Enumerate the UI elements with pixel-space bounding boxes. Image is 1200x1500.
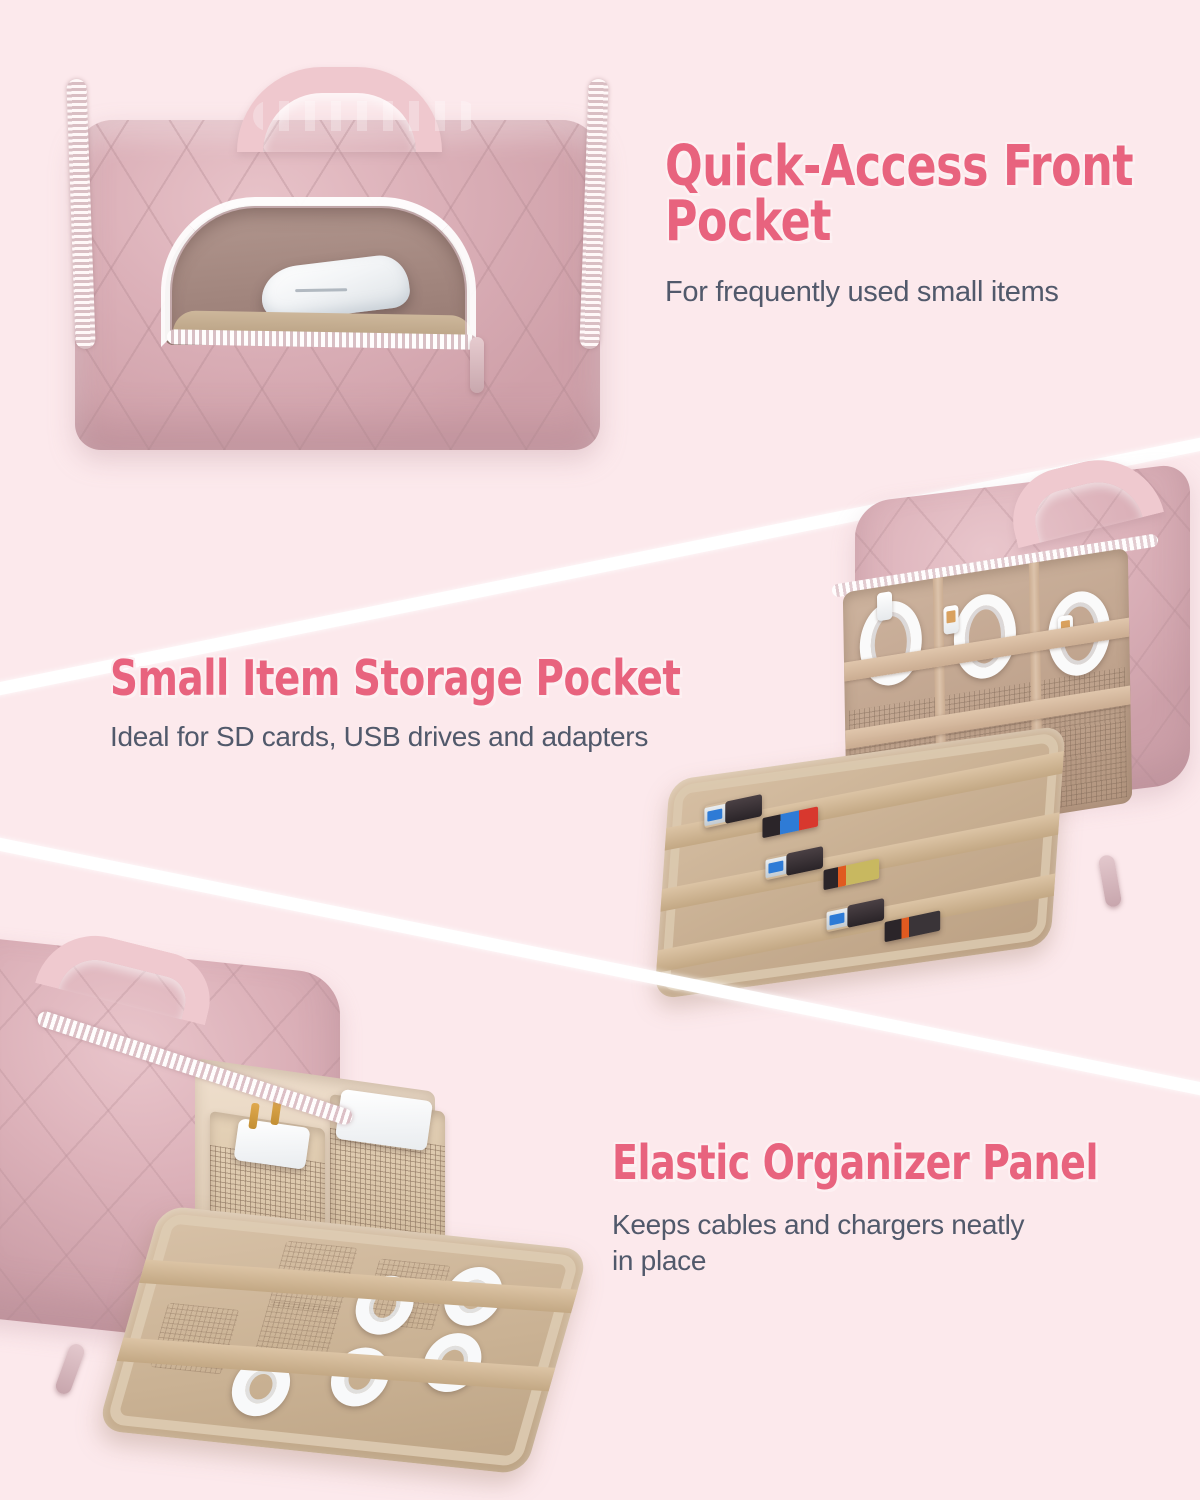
feature-block-small-item-storage: Small Item Storage Pocket Ideal for SD c… [110, 655, 810, 755]
usb-plug [943, 605, 958, 635]
elastic-organizer-flap [97, 1205, 589, 1474]
feature-block-elastic-organizer: Elastic Organizer Panel Keeps cables and… [612, 1140, 1172, 1279]
subline-line-1: Keeps cables and chargers neatly [612, 1207, 1172, 1243]
product-feature-infographic: Quick-Access Front Pocket For frequently… [0, 0, 1200, 1500]
feature-headline: Quick-Access Front Pocket [665, 140, 1140, 250]
headline-line-2: Pocket [665, 195, 1140, 250]
photo-elastic-organizer-panel [0, 925, 600, 1500]
usb-connector-icon [765, 856, 787, 879]
zipper-pull-icon [1098, 854, 1123, 908]
subline-line-2: in place [612, 1243, 1172, 1279]
cable-plug [877, 591, 892, 621]
bag-handle [237, 67, 442, 152]
usb-connector-icon [827, 908, 849, 931]
feature-subline: Keeps cables and chargers neatly in plac… [612, 1207, 1172, 1279]
zipper-tape-right-icon [579, 79, 608, 350]
headline-line-1: Quick-Access Front [665, 140, 1140, 195]
feature-subline: For frequently used small items [665, 274, 1200, 311]
usb-connector-icon [704, 804, 726, 827]
storage-flap [654, 725, 1065, 1000]
feature-headline: Small Item Storage Pocket [110, 655, 726, 703]
pocket-zipper-arch-icon [161, 197, 476, 347]
photo-quick-access-front-pocket [55, 45, 620, 455]
feature-headline: Elastic Organizer Panel [612, 1140, 1105, 1187]
zipper-pull-icon [470, 337, 484, 393]
feature-block-quick-access: Quick-Access Front Pocket For frequently… [665, 140, 1200, 311]
feature-subline: Ideal for SD cards, USB drives and adapt… [110, 719, 810, 755]
zipper-pull-icon [54, 1342, 87, 1396]
